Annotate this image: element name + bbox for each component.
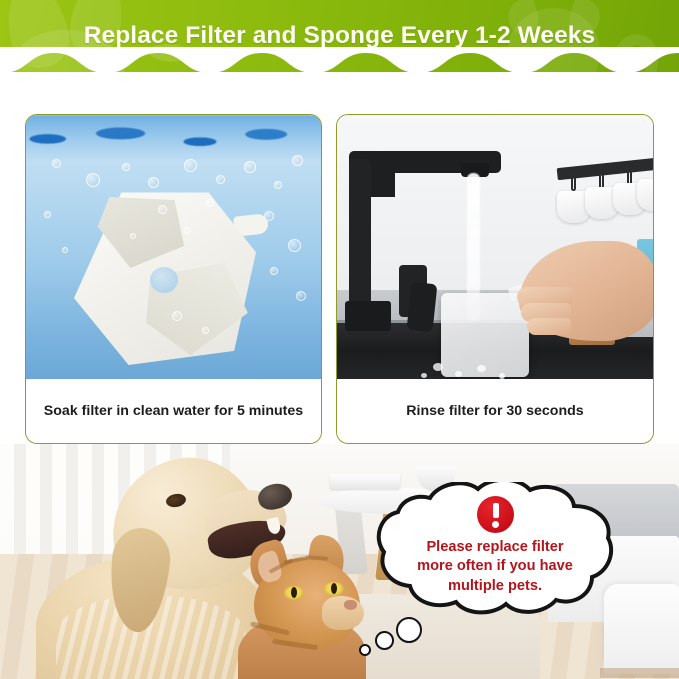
bubble-icon <box>274 181 282 189</box>
bubble-icon <box>122 163 130 171</box>
step-card-rinse: Rinse filter for 30 seconds <box>336 114 654 444</box>
faucet-lever[interactable] <box>407 282 438 332</box>
bubble-icon <box>288 239 301 252</box>
thought-bubble-text: Please replace filter more often if you … <box>398 538 592 596</box>
cat-pupil-right <box>331 583 337 594</box>
warning-exclamation-icon <box>477 496 514 533</box>
exclamation-dot <box>492 521 499 528</box>
bubble-icon <box>270 267 278 275</box>
bubble-icon <box>206 199 214 207</box>
sofa-shadow <box>600 668 679 678</box>
soak-photo <box>26 115 321 381</box>
orange-tabby-cat <box>232 534 380 679</box>
water-filter-cartridge <box>441 293 529 377</box>
finger-ring <box>527 318 571 335</box>
step-card-soak: Soak filter in clean water for 5 minutes <box>25 114 322 444</box>
faucet-base <box>345 301 391 331</box>
splash-droplet-icon <box>455 371 462 377</box>
banner-title: Replace Filter and Sponge Every 1-2 Week… <box>0 22 679 50</box>
splash-droplet-icon <box>421 373 427 378</box>
bubble-icon <box>130 233 136 239</box>
exclamation-bar <box>493 503 499 518</box>
cat-pupil-left <box>291 587 297 598</box>
mug-hook-icon <box>571 173 576 191</box>
rinse-caption: Rinse filter for 30 seconds <box>337 379 653 443</box>
splash-droplet-icon <box>477 365 486 372</box>
bubble-icon <box>202 327 209 334</box>
thought-bubble-dot-large <box>396 617 422 643</box>
bubble-icon <box>158 205 167 214</box>
bubble-icon <box>44 211 51 218</box>
bubble-icon <box>172 311 182 321</box>
product-infographic: Replace Filter and Sponge Every 1-2 Week… <box>0 0 679 679</box>
bubble-icon <box>296 291 306 301</box>
thought-bubble-dot-small <box>359 644 371 656</box>
faucet-column <box>349 159 371 317</box>
thought-line-1: Please replace filter <box>398 538 592 557</box>
thought-bubble: Please replace filter more often if you … <box>376 482 614 616</box>
bubble-icon <box>184 227 191 234</box>
thought-line-3: multiple pets. <box>398 577 592 596</box>
bubble-icon <box>216 175 225 184</box>
bubble-icon <box>244 161 256 173</box>
header-banner: Replace Filter and Sponge Every 1-2 Week… <box>0 0 679 72</box>
bubble-icon <box>292 155 303 166</box>
cat-snout <box>322 596 364 630</box>
bubble-icon <box>184 159 197 172</box>
splash-droplet-icon <box>433 363 443 371</box>
bubble-icon <box>52 159 61 168</box>
wave-divider-icon <box>0 47 679 72</box>
soak-caption: Soak filter in clean water for 5 minutes <box>26 379 321 443</box>
bubble-icon <box>86 173 100 187</box>
filter-center-hub <box>150 267 178 293</box>
thought-line-2: more often if you have <box>398 557 592 576</box>
rinse-photo <box>337 115 653 381</box>
bubble-icon <box>148 177 159 188</box>
cat-nose <box>344 600 357 610</box>
thought-bubble-dot-medium <box>375 631 394 650</box>
water-surface-icon <box>26 115 321 161</box>
bubble-icon <box>62 247 68 253</box>
sofa-armrest <box>604 584 679 674</box>
